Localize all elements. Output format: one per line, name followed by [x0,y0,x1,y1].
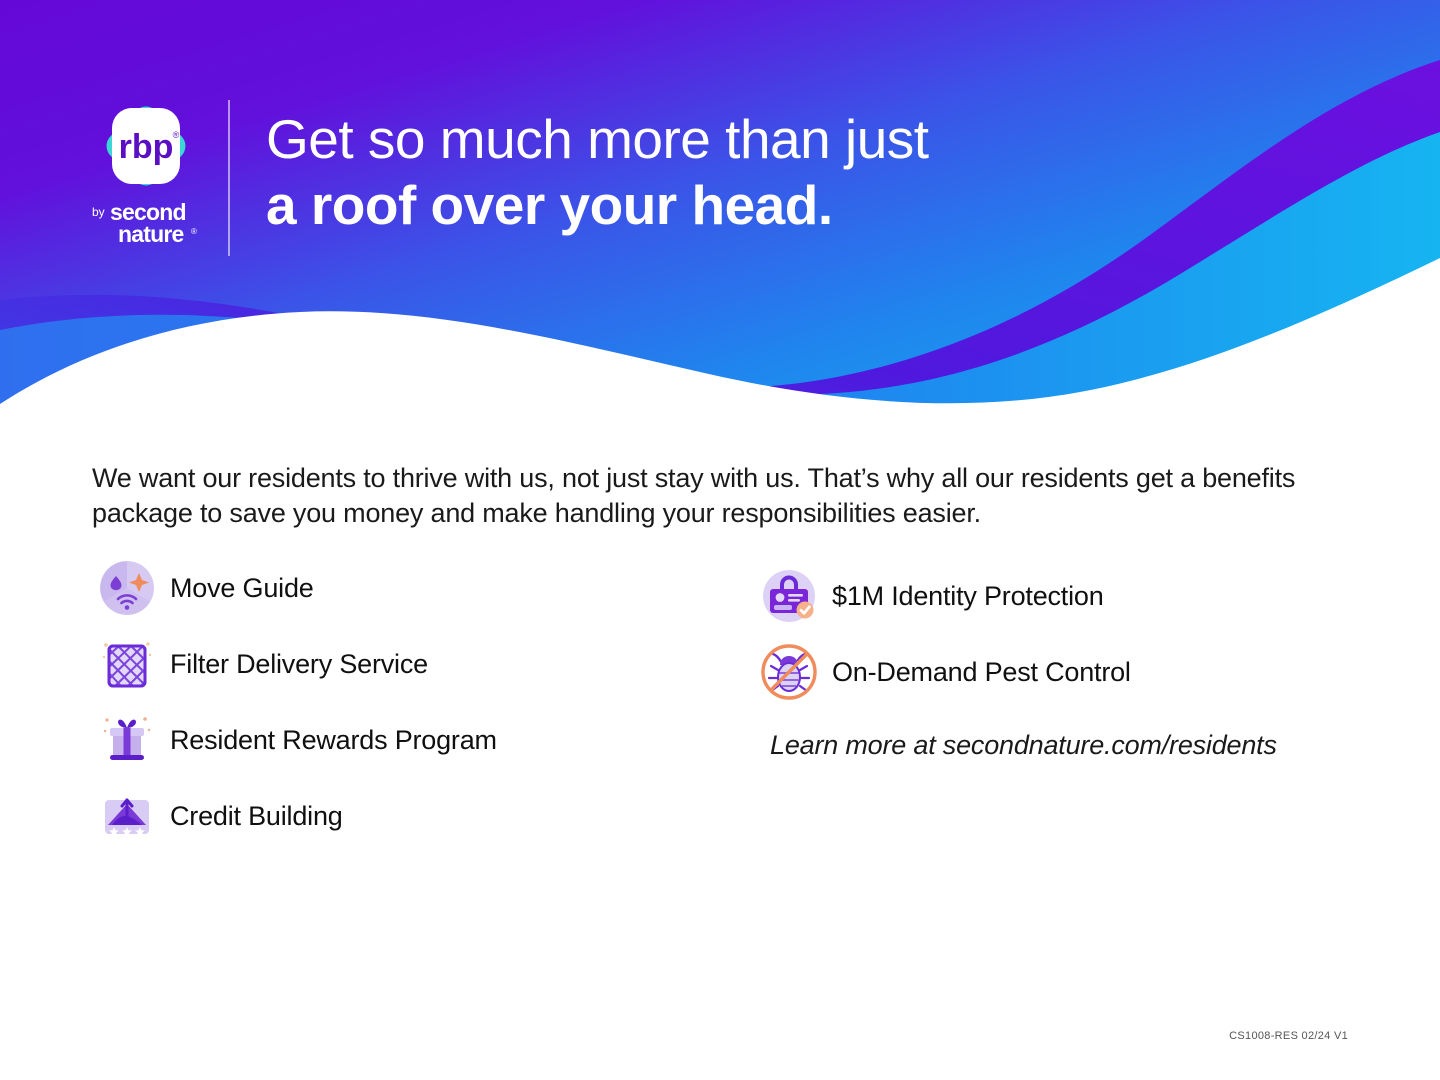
headline-line-2: a roof over your head. [266,172,929,238]
headline-line-1: Get so much more than just [266,106,929,172]
document-code: CS1008-RES 02/24 V1 [1229,1030,1348,1042]
benefit-item-filter-delivery: Filter Delivery Service [96,626,716,702]
benefit-item-identity-protection: $1M Identity Protection [758,558,1378,634]
wordmark-registered: ® [191,227,197,236]
benefits-list-left: Move Guide [96,550,716,854]
move-guide-icon [96,557,158,619]
wordmark-nature: nature [118,221,184,247]
benefit-label: Filter Delivery Service [170,648,428,680]
benefit-item-resident-rewards: Resident Rewards Program [96,702,716,778]
benefit-item-pest-control: On-Demand Pest Control [758,634,1378,710]
benefit-label: $1M Identity Protection [832,580,1104,612]
learn-more-text: Learn more at secondnature.com/residents [770,728,1277,762]
gift-box-icon [96,709,158,771]
rbp-logo: rbp ® by second nature ® [88,96,206,256]
id-badge-lock-icon [758,565,820,627]
second-nature-wordmark: by second nature ® [88,200,206,256]
logo-mark-registered: ® [173,130,180,140]
no-pest-icon [758,641,820,703]
benefit-item-move-guide: Move Guide [96,550,716,626]
credit-badge-icon [96,785,158,847]
intro-paragraph: We want our residents to thrive with us,… [92,461,1312,531]
benefit-label: Credit Building [170,800,343,832]
air-filter-icon [96,633,158,695]
page-title: Get so much more than just a roof over y… [266,106,929,238]
header-vertical-divider [228,100,230,256]
rbp-logo-mark: rbp ® [96,96,196,196]
logo-mark-text: rbp [119,128,174,166]
benefit-label: Resident Rewards Program [170,724,497,756]
wordmark-by: by [92,205,105,219]
benefit-label: Move Guide [170,572,314,604]
benefit-label: On-Demand Pest Control [832,656,1131,688]
benefits-list-right: $1M Identity Protection [758,558,1378,710]
benefit-item-credit-building: Credit Building [96,778,716,854]
